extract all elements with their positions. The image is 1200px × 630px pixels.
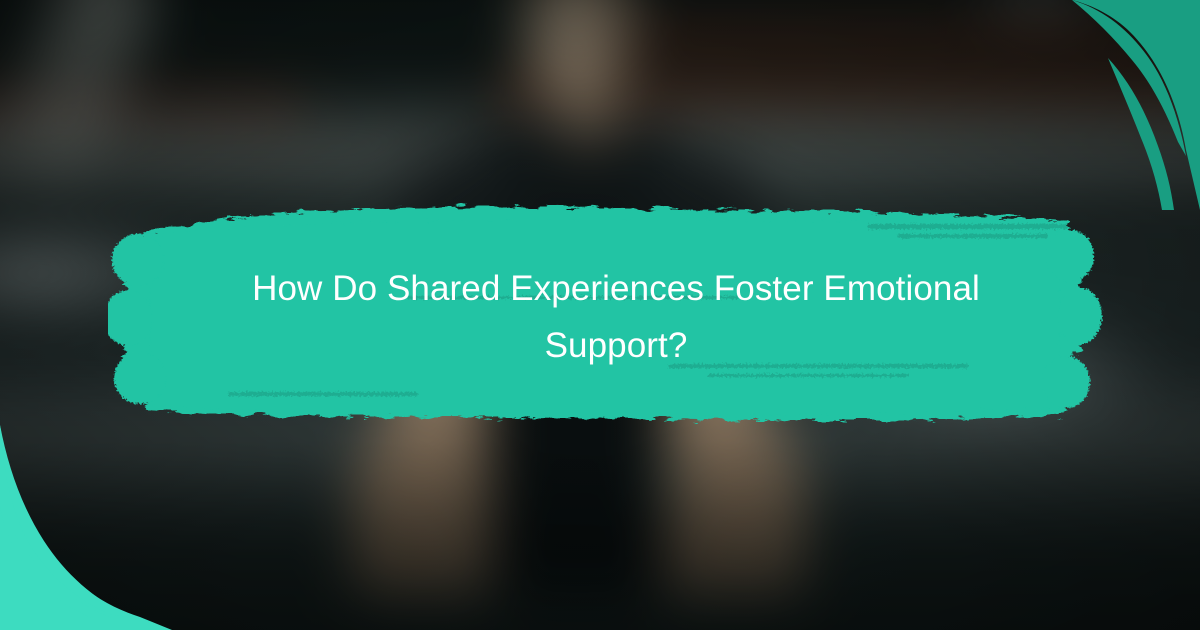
page-title: How Do Shared Experiences Foster Emotion… (198, 219, 1034, 416)
paint-brush-stroke-banner: How Do Shared Experiences Foster Emotion… (108, 196, 1104, 440)
title-card: How Do Shared Experiences Foster Emotion… (0, 0, 1200, 630)
